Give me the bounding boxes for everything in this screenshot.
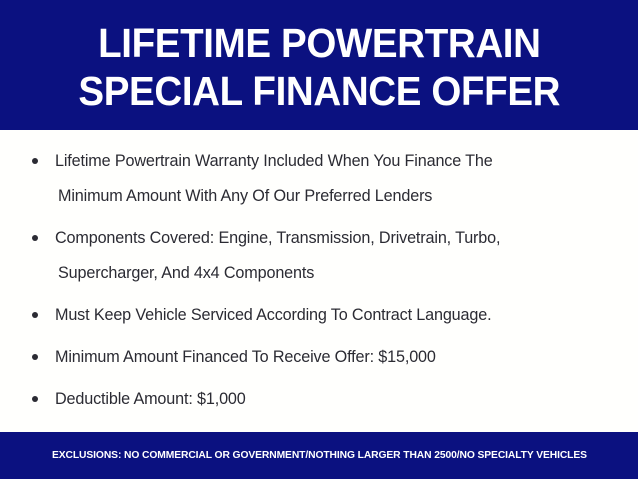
exclusions-text: EXCLUSIONS: NO COMMERCIAL OR GOVERNMENT/…: [0, 449, 587, 463]
offer-details-body: Lifetime Powertrain Warranty Included Wh…: [0, 130, 638, 432]
offer-bullet-list: Lifetime Powertrain Warranty Included Wh…: [18, 144, 620, 459]
bullet-dot-icon: [32, 312, 38, 318]
list-item: Minimum Amount Financed To Receive Offer…: [18, 340, 620, 375]
page-title-line-2: SPECIAL FINANCE OFFER: [78, 67, 560, 115]
list-item: Lifetime Powertrain Warranty Included Wh…: [18, 144, 620, 214]
list-item-text: Deductible Amount: $1,000: [55, 382, 620, 417]
page-title-line-1: LIFETIME POWERTRAIN: [98, 19, 540, 67]
bullet-dot-icon: [32, 396, 38, 402]
list-item-text: Components Covered: Engine, Transmission…: [55, 221, 620, 291]
header-banner: LIFETIME POWERTRAIN SPECIAL FINANCE OFFE…: [0, 0, 638, 130]
list-item-text: Minimum Amount Financed To Receive Offer…: [55, 340, 620, 375]
list-item: Components Covered: Engine, Transmission…: [18, 221, 620, 291]
footer-banner: EXCLUSIONS: NO COMMERCIAL OR GOVERNMENT/…: [0, 432, 638, 479]
list-item-line-1: Minimum Amount Financed To Receive Offer…: [55, 348, 436, 366]
list-item: Must Keep Vehicle Serviced According To …: [18, 298, 620, 333]
list-item-line-2: Minimum Amount With Any Of Our Preferred…: [55, 179, 620, 214]
offer-slide: LIFETIME POWERTRAIN SPECIAL FINANCE OFFE…: [0, 0, 638, 479]
list-item-line-1: Must Keep Vehicle Serviced According To …: [55, 306, 491, 324]
bullet-dot-icon: [32, 235, 38, 241]
list-item: Deductible Amount: $1,000: [18, 382, 620, 417]
list-item-line-1: Lifetime Powertrain Warranty Included Wh…: [55, 152, 493, 170]
list-item-text: Lifetime Powertrain Warranty Included Wh…: [55, 144, 620, 214]
bullet-dot-icon: [32, 158, 38, 164]
bullet-dot-icon: [32, 354, 38, 360]
list-item-line-1: Components Covered: Engine, Transmission…: [55, 229, 500, 247]
list-item-line-2: Supercharger, And 4x4 Components: [55, 256, 620, 291]
list-item-line-1: Deductible Amount: $1,000: [55, 390, 246, 408]
list-item-text: Must Keep Vehicle Serviced According To …: [55, 298, 620, 333]
